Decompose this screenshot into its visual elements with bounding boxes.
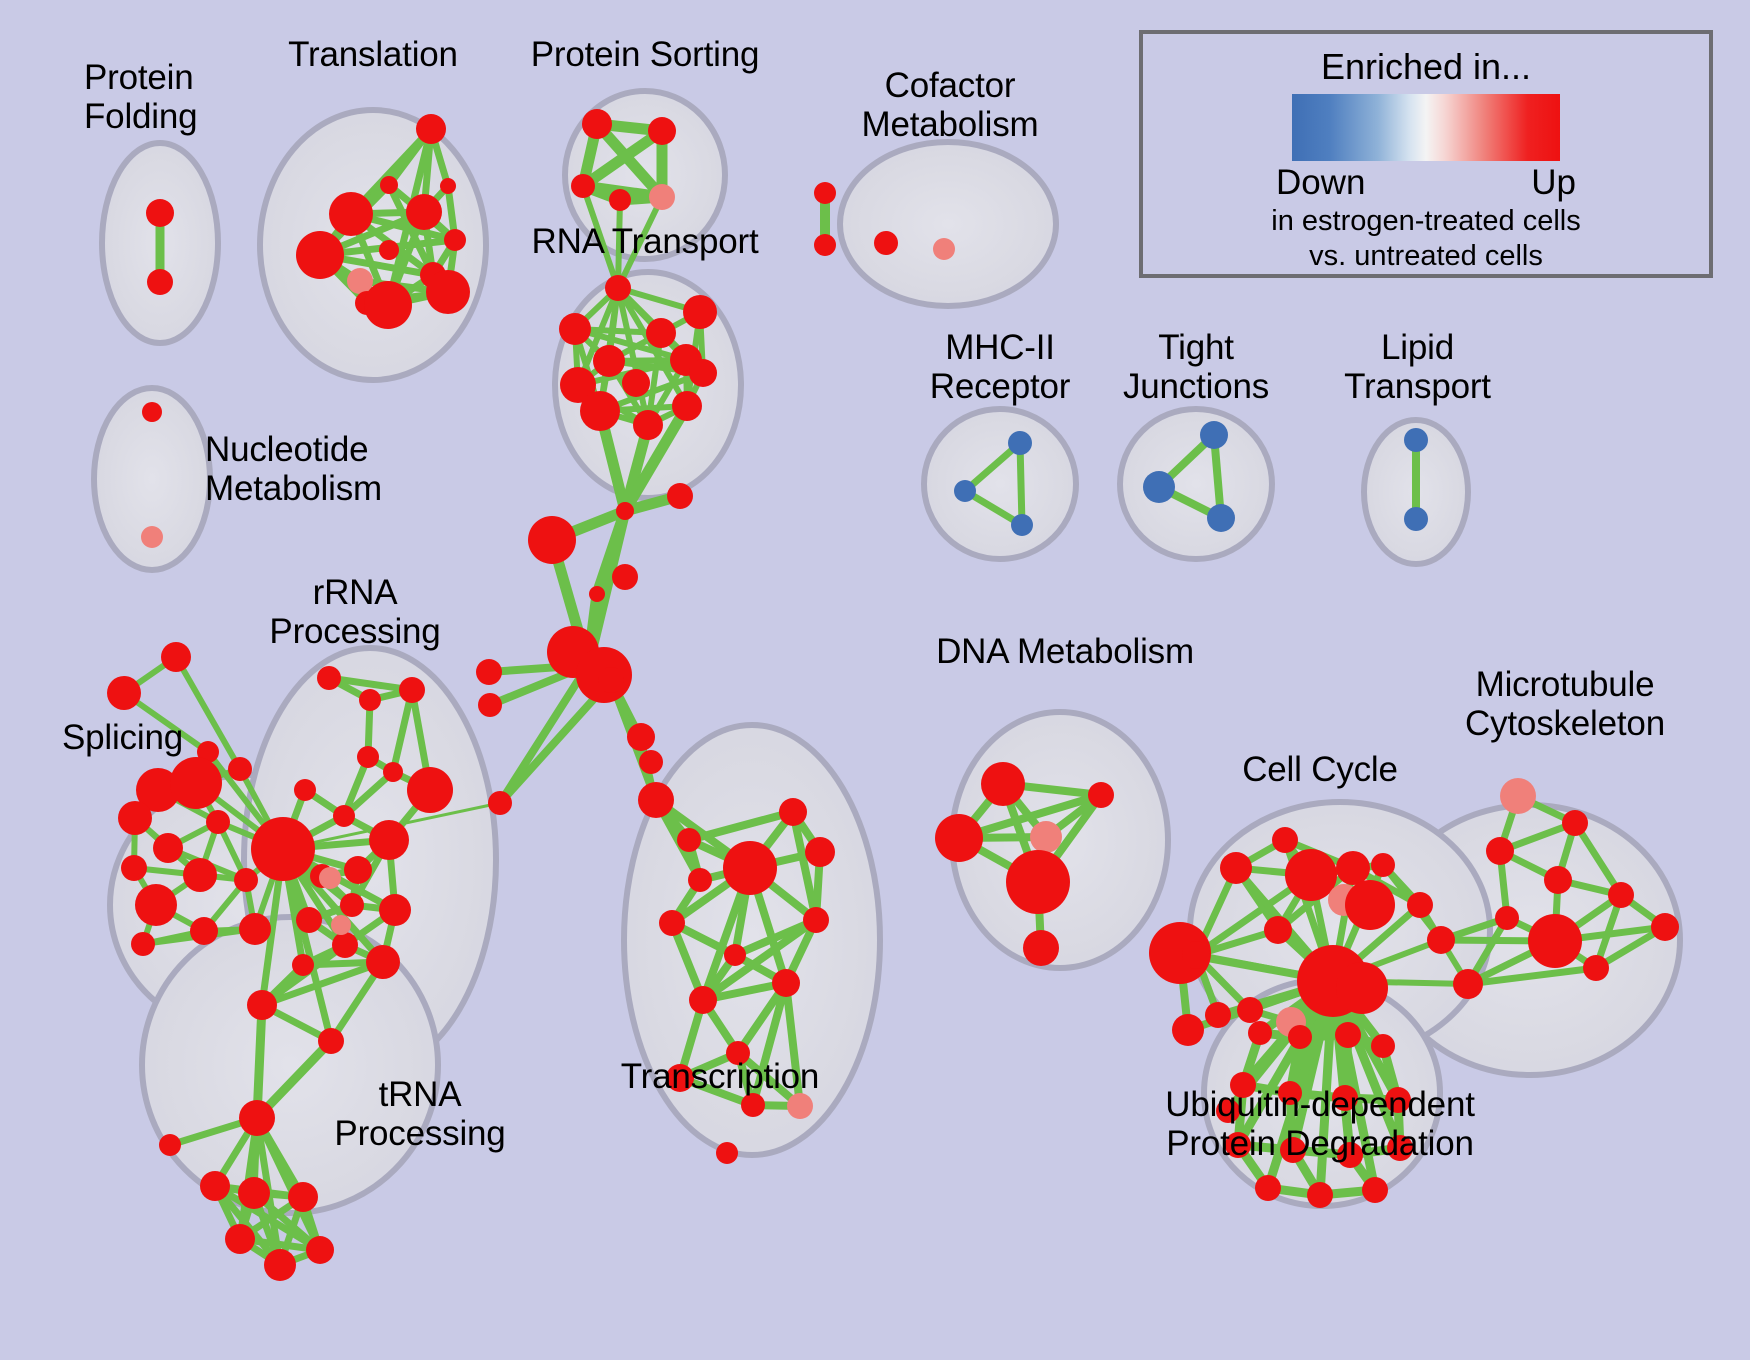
node — [251, 817, 315, 881]
node — [407, 767, 453, 813]
node — [724, 944, 746, 966]
node — [118, 801, 152, 835]
node — [488, 791, 512, 815]
node — [688, 868, 712, 892]
node — [649, 184, 675, 210]
node — [1495, 906, 1519, 930]
node — [677, 828, 701, 852]
node — [528, 516, 576, 564]
node — [1006, 850, 1070, 914]
node — [225, 1224, 255, 1254]
node — [803, 907, 829, 933]
node — [383, 762, 403, 782]
node — [1143, 471, 1175, 503]
node — [1237, 997, 1263, 1023]
node — [1362, 1177, 1388, 1203]
label-ubiquitin-degradation: Ubiquitin-dependent Protein Degradation — [1070, 1085, 1570, 1163]
legend-down-label: Down — [1276, 163, 1365, 203]
node — [247, 990, 277, 1020]
node — [347, 268, 373, 294]
node — [683, 295, 717, 329]
node — [622, 369, 650, 397]
node — [1651, 913, 1679, 941]
node — [933, 238, 955, 260]
node — [121, 855, 147, 881]
node — [981, 762, 1025, 806]
node — [605, 275, 631, 301]
blob-tight-junctions — [1120, 409, 1272, 559]
node — [1404, 428, 1428, 452]
node — [1200, 421, 1228, 449]
node — [805, 837, 835, 867]
node — [161, 642, 191, 672]
node — [366, 945, 400, 979]
node — [319, 867, 341, 889]
blob-mhc-ii-receptor — [924, 409, 1076, 559]
label-protein-sorting: Protein Sorting — [500, 35, 790, 74]
node — [318, 1028, 344, 1054]
label-protein-folding: Protein Folding — [84, 58, 197, 136]
node — [406, 194, 442, 230]
node — [399, 677, 425, 703]
node — [638, 782, 674, 818]
node — [1207, 504, 1235, 532]
node — [364, 281, 412, 329]
legend-up-label: Up — [1531, 163, 1576, 203]
node — [147, 269, 173, 295]
node — [1285, 849, 1337, 901]
node — [234, 868, 258, 892]
node — [1023, 930, 1059, 966]
node — [141, 526, 163, 548]
node — [1427, 926, 1455, 954]
node — [1371, 853, 1395, 877]
node — [239, 913, 271, 945]
node — [1336, 962, 1388, 1014]
node — [292, 954, 314, 976]
node — [1008, 431, 1032, 455]
label-cell-cycle: Cell Cycle — [1190, 750, 1450, 789]
node — [1248, 1021, 1272, 1045]
node — [814, 234, 836, 256]
node — [1486, 837, 1514, 865]
label-splicing: Splicing — [62, 718, 183, 757]
node — [131, 932, 155, 956]
node — [639, 750, 663, 774]
node — [646, 318, 676, 348]
node — [633, 410, 663, 440]
node — [659, 910, 685, 936]
label-microtubule-cytoskeleton: Microtubule Cytoskeleton — [1395, 665, 1735, 743]
node — [142, 402, 162, 422]
node — [1336, 851, 1370, 885]
node — [559, 313, 591, 345]
node — [1030, 821, 1062, 853]
node — [580, 391, 620, 431]
node — [1371, 1034, 1395, 1058]
legend-gradient-bar — [1292, 94, 1560, 161]
label-nucleotide-metabolism: Nucleotide Metabolism — [205, 430, 382, 508]
node — [296, 907, 322, 933]
node — [379, 240, 399, 260]
node — [598, 667, 624, 693]
node — [1011, 514, 1033, 536]
node — [329, 192, 373, 236]
node — [306, 1236, 334, 1264]
node — [183, 858, 217, 892]
legend-endpoints: Down Up — [1276, 163, 1576, 203]
node — [200, 1171, 230, 1201]
node — [954, 480, 976, 502]
node — [609, 189, 631, 211]
node — [593, 345, 625, 377]
node — [476, 659, 502, 685]
node — [264, 1249, 296, 1281]
node — [1453, 969, 1483, 999]
node — [380, 176, 398, 194]
node — [444, 229, 466, 251]
node — [331, 915, 351, 935]
node — [206, 810, 230, 834]
node — [779, 798, 807, 826]
node — [1272, 827, 1298, 853]
node — [616, 502, 634, 520]
node — [1528, 914, 1582, 968]
network-canvas: Protein Folding Translation Protein Sort… — [0, 0, 1750, 1360]
node — [340, 893, 364, 917]
node — [1335, 1022, 1361, 1048]
node — [627, 723, 655, 751]
node — [582, 109, 612, 139]
legend-title: Enriched in... — [1321, 46, 1531, 88]
legend-subtitle-line1: in estrogen-treated cells — [1271, 205, 1581, 239]
node — [689, 986, 717, 1014]
label-transcription: Transcription — [570, 1057, 870, 1096]
label-cofactor-metabolism: Cofactor Metabolism — [790, 66, 1110, 144]
node — [716, 1142, 738, 1164]
node — [1407, 892, 1433, 918]
label-translation: Translation — [253, 35, 493, 74]
node — [146, 199, 174, 227]
node — [357, 746, 379, 768]
node — [672, 391, 702, 421]
node — [1500, 778, 1536, 814]
node — [1404, 507, 1428, 531]
node — [159, 1134, 181, 1156]
node — [1288, 1025, 1312, 1049]
node — [238, 1177, 270, 1209]
node — [332, 932, 358, 958]
label-trna-processing: tRNA Processing — [255, 1075, 585, 1153]
node — [294, 779, 316, 801]
legend-subtitle-line2: vs. untreated cells — [1309, 240, 1543, 274]
node — [1255, 1175, 1281, 1201]
node — [1264, 916, 1292, 944]
node — [689, 359, 717, 387]
label-rrna-processing: rRNA Processing — [230, 573, 480, 651]
node — [107, 676, 141, 710]
node — [369, 820, 409, 860]
blob-cofactor-metabolism — [840, 142, 1056, 306]
node — [874, 231, 898, 255]
node — [416, 114, 446, 144]
node — [1205, 1002, 1231, 1028]
node — [359, 689, 381, 711]
label-rna-transport: RNA Transport — [505, 222, 785, 261]
node — [571, 174, 595, 198]
node — [170, 757, 222, 809]
node — [1562, 810, 1588, 836]
node — [612, 564, 638, 590]
node — [723, 841, 777, 895]
node — [741, 1093, 765, 1117]
label-lipid-transport: Lipid Transport — [1280, 328, 1555, 406]
node — [333, 805, 355, 827]
legend-box: Enriched in... Down Up in estrogen-treat… — [1139, 30, 1713, 278]
node — [296, 231, 344, 279]
node — [667, 483, 693, 509]
node — [1220, 852, 1252, 884]
node — [478, 693, 502, 717]
label-dna-metabolism: DNA Metabolism — [880, 632, 1250, 671]
node — [772, 969, 800, 997]
node — [814, 182, 836, 204]
node — [1583, 955, 1609, 981]
node — [135, 884, 177, 926]
node — [317, 666, 341, 690]
node — [1172, 1014, 1204, 1046]
node — [379, 894, 411, 926]
node — [440, 178, 456, 194]
node — [1345, 880, 1395, 930]
node — [1544, 866, 1572, 894]
node — [1088, 782, 1114, 808]
node — [1608, 882, 1634, 908]
node — [190, 917, 218, 945]
node — [1182, 941, 1210, 969]
node — [1307, 1182, 1333, 1208]
node — [935, 814, 983, 862]
node — [344, 856, 372, 884]
node — [787, 1093, 813, 1119]
node — [288, 1182, 318, 1212]
node — [228, 757, 252, 781]
node — [153, 833, 183, 863]
node — [648, 117, 676, 145]
node — [426, 270, 470, 314]
node — [589, 586, 605, 602]
